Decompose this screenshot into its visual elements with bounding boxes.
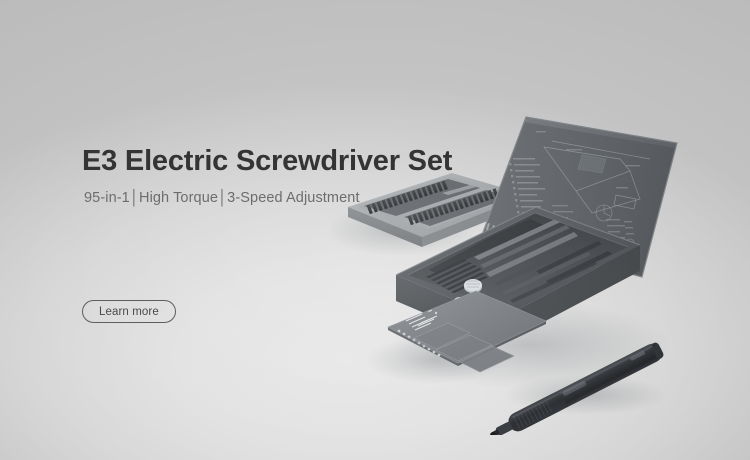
hero-subtitle: 95-in-1│High Torque│3-Speed Adjustment [84,190,442,206]
hero-copy: E3 Electric Screwdriver Set 95-in-1│High… [82,146,442,206]
page-title: E3 Electric Screwdriver Set [82,146,442,176]
hero-banner: E3 Electric Screwdriver Set 95-in-1│High… [0,0,750,460]
learn-more-button[interactable]: Learn more [82,300,176,323]
